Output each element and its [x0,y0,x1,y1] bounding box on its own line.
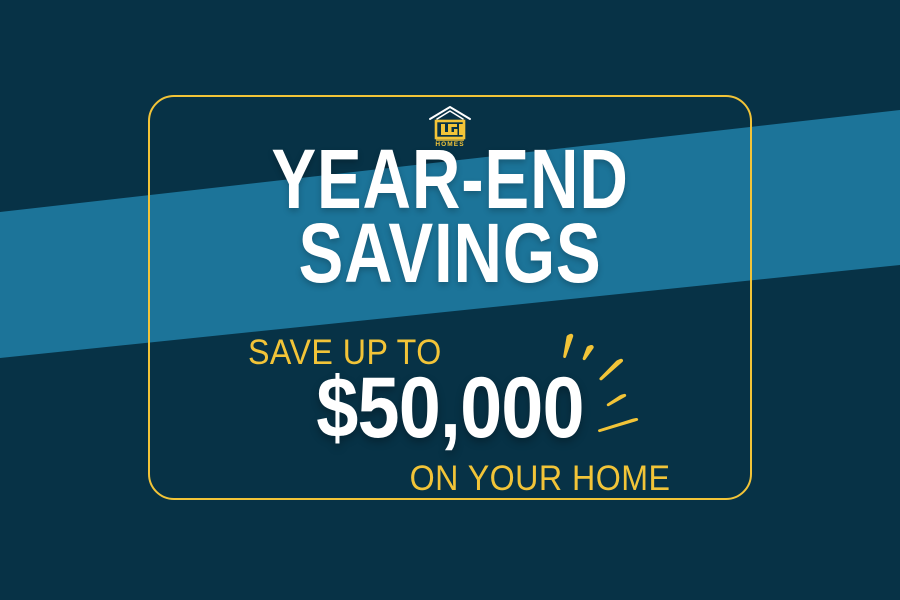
headline-line-2: SAVINGS [90,217,810,289]
offer-block: SAVE UP TO $50,000 ON YOUR HOME [230,333,670,503]
offer-amount-value: $50,000 [316,365,583,451]
offer-footer: ON YOUR HOME [409,459,670,499]
offer-amount: $50,000 [298,365,602,451]
headline: YEAR-END SAVINGS [0,143,900,289]
headline-line-1: YEAR-END [90,143,810,215]
promotional-banner: HOMES YEAR-END SAVINGS SAVE UP TO $50,00… [0,0,900,600]
